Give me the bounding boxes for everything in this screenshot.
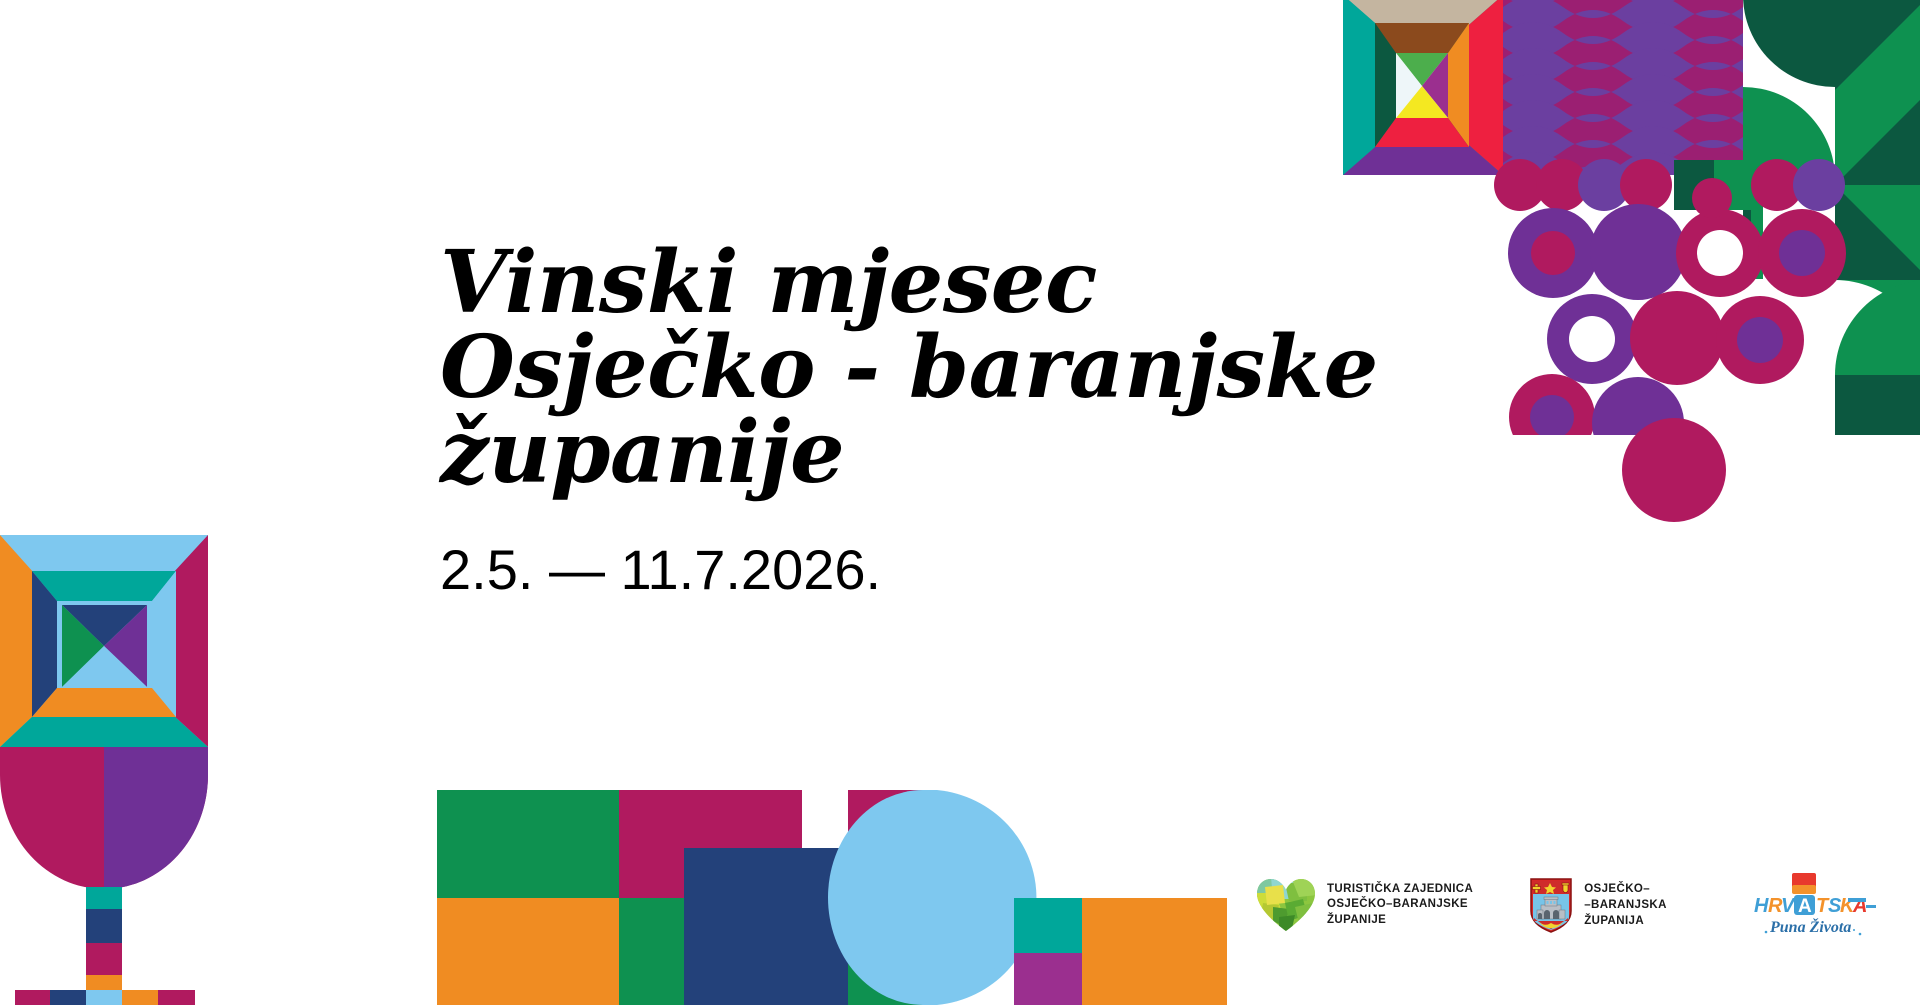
heart-mosaic-icon [1255,877,1317,933]
wine-glass-base [15,990,195,1005]
tangram-basket-icon [1343,0,1503,175]
svg-text:V: V [1781,895,1796,917]
page-title: Vinski mjesec Osječko - baranjske župani… [440,240,1380,495]
county-coat-of-arms-icon [1529,877,1573,933]
grape-berry-bottom [1622,418,1726,522]
date-range: 2.5. — 11.7.2026. [440,495,1380,602]
logo-row: TURISTIČKA ZAJEDNICA OSJEČKO–BARANJSKE Ž… [1255,865,1885,945]
top-right-geometric-motif [1330,0,1920,435]
svg-text:Puna Života: Puna Života [1769,917,1851,936]
wine-bottle-graphic [437,790,1227,1005]
croatia-brand-icon: H R V A T S K A [1748,872,1878,938]
svg-text:H: H [1754,895,1769,917]
grape-cluster [1508,178,1846,435]
turisticka-zajednica-logo[interactable]: TURISTIČKA ZAJEDNICA OSJEČKO–BARANJSKE Ž… [1255,877,1489,933]
svg-text:A: A [1798,896,1812,917]
osjecko-baranjska-zupanija-logo[interactable]: OSJEČKO– –BARANJSKA ŽUPANIJA [1529,877,1724,933]
turisticka-zajednica-label: TURISTIČKA ZAJEDNICA OSJEČKO–BARANJSKE Ž… [1327,882,1473,928]
poster-canvas: Vinski mjesec Osječko - baranjske župani… [0,0,1920,1005]
text-block: Vinski mjesec Osječko - baranjske župani… [440,240,1380,602]
wine-glass-graphic [0,525,225,1005]
county-label: OSJEČKO– –BARANJSKA ŽUPANIJA [1584,881,1667,930]
hrvatska-puna-zivota-logo[interactable]: H R V A T S K A [1748,872,1885,938]
